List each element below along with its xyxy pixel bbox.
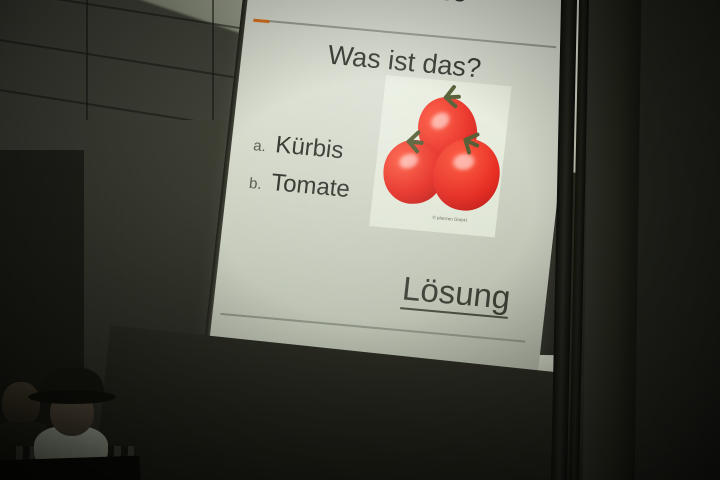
desk [0, 456, 140, 480]
answer-label: Kürbis [274, 131, 345, 164]
photo-credit: © planzen GmbH [432, 216, 467, 224]
projection-screen: Gemüse & Nüsse Was ist das? a. Kürbis b.… [206, 0, 579, 398]
photo-scene: AK esulhe Gemüse & Nüsse Was ist das? a.… [0, 0, 720, 480]
door-frame [583, 0, 642, 480]
hat-brim [28, 390, 116, 404]
answer-marker: b. [248, 175, 262, 193]
header-accent-mark [253, 19, 269, 23]
tomato-photo: © planzen GmbH [369, 75, 511, 237]
tomato-stem-icon [396, 135, 427, 150]
answer-list: a. Kürbis b. Tomate [247, 131, 356, 216]
answer-marker: a. [252, 137, 266, 155]
answer-option-a: a. Kürbis [252, 131, 355, 164]
answer-label: Tomate [270, 169, 351, 203]
solution-link[interactable]: Lösung [400, 271, 512, 319]
answer-option-b: b. Tomate [248, 169, 351, 202]
slide-surface: Gemüse & Nüsse Was ist das? a. Kürbis b.… [206, 0, 579, 398]
slide-header-text: Gemüse & Nüsse [267, 0, 468, 7]
slide-header: Gemüse & Nüsse [260, 0, 563, 42]
footer-rule [220, 313, 525, 342]
